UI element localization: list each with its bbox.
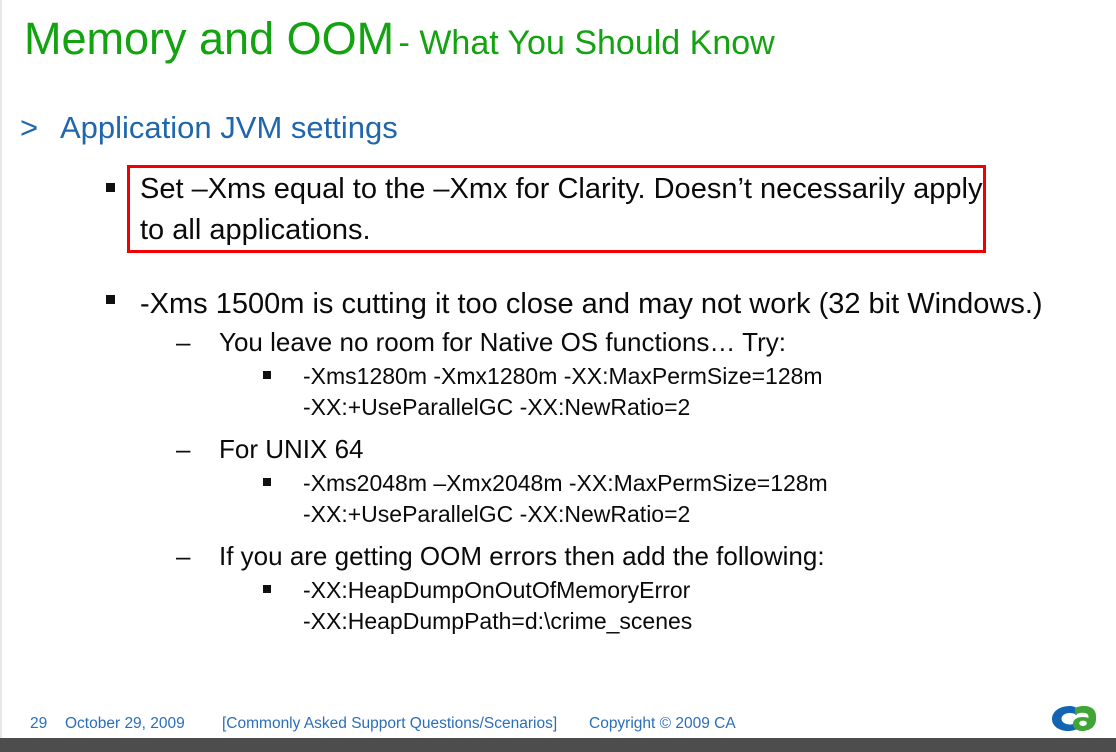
boxed-bullet-label: Set –Xms equal to the –Xmx for Clarity. …	[140, 173, 982, 246]
heapdump-line1: -XX:HeapDumpOnOutOfMemoryError	[303, 577, 690, 603]
bullet-level1-label: Application JVM settings	[22, 108, 398, 148]
bullet-level3-oom-errors: – If you are getting OOM errors then add…	[0, 538, 1116, 575]
slide-canvas: Memory and OOM - What You Should Know > …	[0, 0, 1116, 752]
bullet-level4-jvm-flags-2048m: -Xms2048m –Xmx2048m -XX:MaxPermSize=128m	[0, 468, 1116, 499]
jvm-flags-line2: -XX:+UseParallelGC -XX:NewRatio=2	[303, 394, 690, 420]
footer-deck-title: [Commonly Asked Support Questions/Scenar…	[222, 712, 557, 736]
jvm-flags-line2: -XX:+UseParallelGC -XX:NewRatio=2	[303, 501, 690, 527]
dash-bullet-icon: –	[176, 431, 190, 468]
square-bullet-icon	[106, 183, 115, 192]
slide-footer: 29 October 29, 2009 [Commonly Asked Supp…	[0, 712, 1116, 736]
jvm-flags-line1: -Xms1280m -Xmx1280m -XX:MaxPermSize=128m	[303, 363, 823, 389]
bullet-level3-for-unix-64: – For UNIX 64	[0, 431, 1116, 468]
bullet-level2-xms-1500m: -Xms 1500m is cutting it too close and m…	[0, 284, 1116, 324]
bullet-level4-heapdump-flags: -XX:HeapDumpOnOutOfMemoryError	[0, 575, 1116, 606]
title-subtitle-text: - What You Should Know	[399, 24, 775, 62]
bullet-level2-set-xms-equal-xmx: Set –Xms equal to the –Xmx for Clarity. …	[0, 169, 1000, 251]
dash-bullet-icon: –	[176, 538, 190, 575]
bullet-level1-application-jvm-settings: > Application JVM settings	[0, 108, 1116, 148]
square-bullet-icon	[263, 371, 271, 379]
dash-bullet-icon: –	[176, 324, 190, 361]
bullet-level4-jvm-flags-2048m-cont: -XX:+UseParallelGC -XX:NewRatio=2	[0, 499, 1116, 530]
jvm-flags-line1: -Xms2048m –Xmx2048m -XX:MaxPermSize=128m	[303, 470, 828, 496]
footer-date: October 29, 2009	[65, 712, 185, 736]
square-bullet-icon	[106, 295, 115, 304]
bullet-level4-jvm-flags-1280m: -Xms1280m -Xmx1280m -XX:MaxPermSize=128m	[0, 361, 1116, 392]
bullet-level3-label: For UNIX 64	[219, 434, 364, 464]
title-main-text: Memory and OOM	[24, 13, 394, 64]
heapdump-line2: -XX:HeapDumpPath=d:\crime_scenes	[303, 608, 692, 634]
slide-title: Memory and OOM - What You Should Know	[24, 14, 1074, 64]
bullet-level3-native-os-functions: – You leave no room for Native OS functi…	[0, 324, 1116, 361]
bullet-level4-heapdump-flags-cont: -XX:HeapDumpPath=d:\crime_scenes	[0, 606, 1116, 637]
footer-slide-number: 29	[30, 712, 47, 736]
slide-bottom-bar	[0, 738, 1116, 752]
bullet-level4-jvm-flags-1280m-cont: -XX:+UseParallelGC -XX:NewRatio=2	[0, 392, 1116, 423]
bullet-level2-label: -Xms 1500m is cutting it too close and m…	[140, 288, 1043, 320]
square-bullet-icon	[263, 585, 271, 593]
ca-logo	[1046, 700, 1100, 734]
bullet-level3-label: If you are getting OOM errors then add t…	[219, 541, 825, 571]
footer-copyright: Copyright © 2009 CA	[589, 712, 736, 736]
square-bullet-icon	[263, 478, 271, 486]
bullet-level3-label: You leave no room for Native OS function…	[219, 327, 786, 357]
chevron-marker-icon: >	[20, 108, 38, 148]
